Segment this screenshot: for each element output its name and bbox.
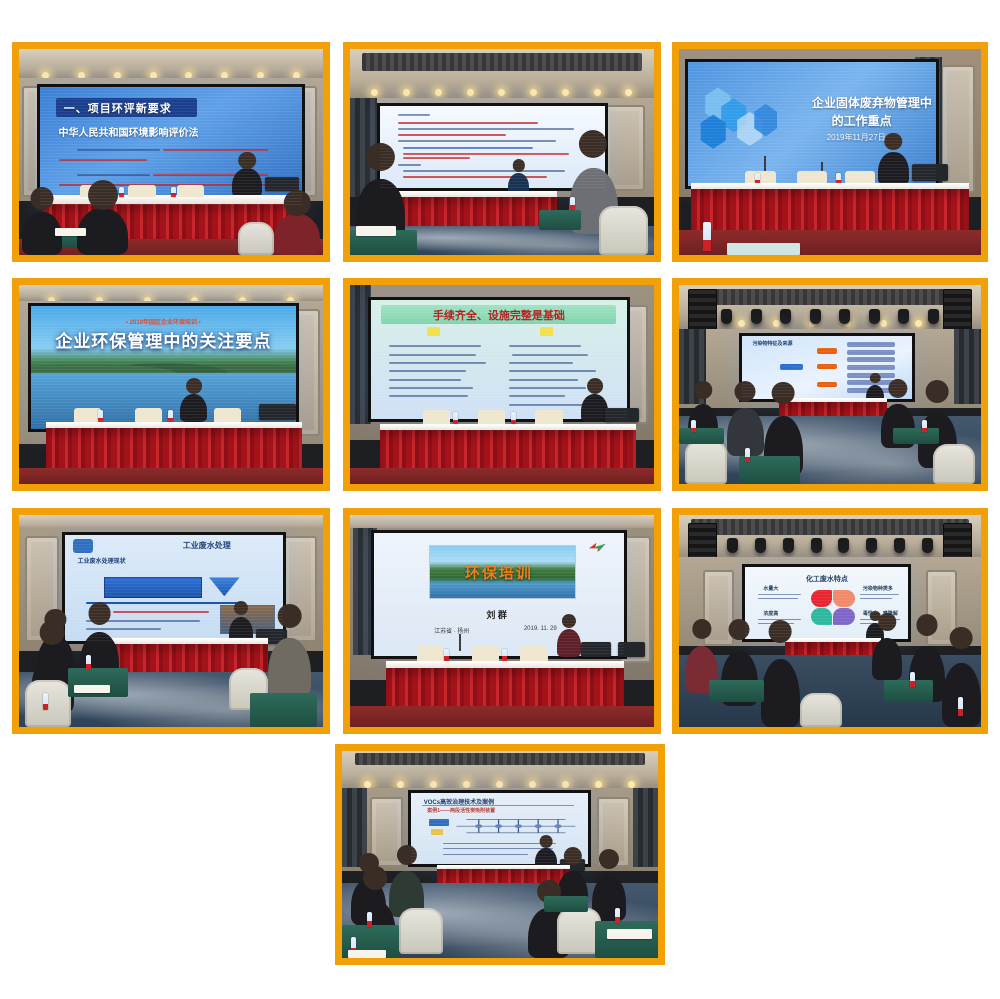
bottle-6b [922,420,927,432]
audience-head-10c [363,866,387,890]
paper-3a [727,243,799,255]
audience-desk-2b [539,210,582,231]
slide-title-5: 手续齐全、设施完整是基础 [433,307,565,323]
audience-head-9b [729,619,750,640]
slide-body-line-1b [163,149,268,151]
slide-title-3: 企业固体废弃物管理中 [812,94,932,111]
laptop-5 [605,408,638,422]
presenter-head-10 [539,835,552,848]
bottle-9a [910,672,915,687]
slide-5-left-2 [389,354,476,356]
microphone-8 [459,634,461,651]
slide-7-clarifier [209,577,240,596]
slide-2-line-5 [398,140,555,142]
curtain-10b [633,788,658,867]
conference-scene-7: 工业废水处理 工业废水处理现状 [19,515,323,727]
photo-tile-4[interactable]: • 2019年园区企业环保培训 • 企业环保管理中的关注要点 [12,278,330,491]
slide-10-diagram-box [431,829,443,835]
photo-tile-8[interactable]: 环保培训 刘 群 江苏省 · 扬州 2019. 11. 29 [343,508,661,734]
slide-5-badge-right [540,327,553,335]
led-screen-2 [377,103,608,191]
swallow-logo-icon [586,541,608,556]
bottle-5b [511,412,516,424]
slide-9-text-1 [758,594,800,595]
bottle-9b [958,697,963,716]
slide-5-left-4 [389,370,466,372]
ceiling-truss-6 [691,289,969,305]
presenter-3 [878,152,908,185]
table-skirt-3 [691,189,969,234]
photo-collage: 一、项目环评新要求 中华人民共和国环境影响评价法 [0,0,1000,999]
audience-head-1c [284,190,310,216]
audience-chair-6a [685,440,727,484]
bottle-4a [98,410,103,422]
audience-paper-1a [55,228,85,236]
table-skirt-4 [46,428,301,472]
ceiling-lights-2 [359,90,645,95]
slide-6-source-node [780,364,804,370]
photo-tile-9[interactable]: 化工废水特点 水量大 污染物种类多 浓度高 毒性大、难降解 [672,508,988,734]
slide-9-petal-03 [833,608,854,625]
slide-affiliation-8: 江苏省 · 扬州 [434,626,469,635]
slide-presenter-8: 刘 群 [486,608,507,621]
slide-body-line-1a [77,149,161,151]
name-card-4a [74,408,101,422]
audience-head-1b [88,180,118,210]
conference-scene-8: 环保培训 刘 群 江苏省 · 扬州 2019. 11. 29 [350,515,654,727]
led-screen-4: • 2019年园区企业环保培训 • 企业环保管理中的关注要点 [28,303,298,432]
slide-6-branch-2 [817,364,837,370]
ceiling-truss-10 [355,753,646,765]
slide-4-hills [31,353,295,373]
audience-desk-7b [250,693,317,727]
audience-7d [268,638,311,697]
slide-6: 污染物特征及来源 [742,336,911,400]
presenter-4 [180,394,207,422]
photo-tile-5[interactable]: 手续齐全、设施完整是基础 [343,278,661,491]
slide-5-left-5 [389,379,461,381]
slide-body-line-1d [77,174,150,176]
laptop-4 [259,404,295,420]
photo-tile-10[interactable]: VOCs高效治理技术及案例 案例1——两段活性炭吸附装置 [335,744,665,965]
presenter-head-3 [885,133,903,151]
laptop-3 [912,164,948,180]
audience-chair-10a [399,908,443,954]
stage-floor-4 [19,468,323,484]
slide-5-left-1 [389,345,481,347]
audience-head-7b [88,602,111,625]
bottle-2a [570,197,575,209]
slide-5-right-4 [509,370,596,372]
slide-2-line-9 [398,164,420,166]
audience-head-9c [769,620,792,643]
slide-7-logo-icon [73,539,93,553]
slide-5-badge-left [427,327,440,335]
bottle-6c [745,448,750,462]
slide-2-line-4 [398,134,506,136]
paper-10a [607,929,651,939]
name-card-5b [478,410,505,424]
slide-5-right-3 [509,362,573,364]
audience-head-9f [950,627,973,650]
presenter-5 [581,394,608,422]
slide-7-note [113,611,209,613]
photo-tile-7[interactable]: 工业废水处理 工业废水处理现状 [12,508,330,734]
slide-10-note-3 [443,854,528,855]
presenter-head-1 [238,152,256,170]
bottle-1b [171,187,176,197]
slide-9-petal-04 [811,608,832,625]
slide-9-block-1: 水量大 [763,585,778,592]
stage-floor-3 [679,230,981,255]
led-screen-7: 工业废水处理 工业废水处理现状 [62,532,287,644]
curtain-6b [954,329,981,405]
laptop-8b [618,642,645,657]
name-card-8c [520,646,547,661]
bottle-3c [703,222,711,251]
stage-floor-8 [350,706,654,727]
photo-tile-1[interactable]: 一、项目环评新要求 中华人民共和国环境影响评价法 [12,42,330,262]
slide-5-right-7 [509,395,565,397]
slide-5-left-3 [389,362,486,364]
slide-subtitle-7: 工业废水处理现状 [78,556,126,565]
slide-4: • 2019年园区企业环保培训 • 企业环保管理中的关注要点 [31,306,295,429]
name-card-8b [472,646,499,661]
slide-2-line-7 [403,153,569,155]
audience-desk-9a [709,680,763,701]
audience-desk-6b [893,428,938,444]
slide-title-line2-3: 的工作重点 [832,112,892,129]
slide-9-text-2 [758,598,797,599]
conference-scene-10: VOCs高效治理技术及案例 案例1——两段活性炭吸附装置 [342,751,658,958]
slide-9-petal-02 [833,590,854,607]
slide-5-right-1 [509,345,581,347]
conference-scene-3: 企业固体废弃物管理中 的工作重点 2019年11月27日 [679,49,981,255]
name-card-1c [177,185,204,197]
slide-7-flowline [86,602,244,604]
bottle-7a [86,655,91,670]
audience-chair-9a [800,693,842,727]
slide-subtitle-1: 中华人民共和国环境影响评价法 [59,124,199,139]
conference-scene-9: 化工废水特点 水量大 污染物种类多 浓度高 毒性大、难降解 [679,515,981,727]
slide-5-left-7 [389,395,468,397]
slide-9-text-4 [860,598,893,599]
slide-title-4: 企业环保管理中的关注要点 [55,327,271,352]
paper-7a [74,685,110,693]
slide-2-line-2 [398,122,537,124]
slide-10: VOCs高效治理技术及案例 案例1——两段活性炭吸附装置 [411,793,588,863]
slide-9-block-2: 污染物种类多 [863,585,893,592]
audience-head-6e [926,380,949,403]
name-card-5a [423,410,450,424]
slide-6-branch-1 [817,348,837,354]
slide-date-8: 2019. 11. 29 [524,626,557,632]
audience-head-7c [40,620,65,645]
presenter-head-6 [870,373,881,384]
audience-head-6b [735,381,756,402]
slide-6-item-1 [847,342,894,347]
slide-10-note-2 [443,848,553,849]
conference-scene-2 [350,49,654,255]
slide-2-line-8 [403,157,470,159]
process-flow-icon [454,817,578,835]
presenter-head-5 [587,378,603,394]
presenter-1 [232,168,262,197]
table-skirt-5 [380,430,635,472]
slide-title-6: 污染物特征及来源 [753,340,793,347]
audience-head-9e [916,614,937,635]
ceiling-truss-2 [362,53,642,71]
slide-title-9: 化工废水特点 [806,574,848,584]
slide-9-block-3: 浓度高 [763,610,778,617]
conference-scene-6: 污染物特征及来源 [679,285,981,484]
slide-7-note-3 [86,628,160,630]
conference-scene-4: • 2019年园区企业环保培训 • 企业环保管理中的关注要点 [19,285,323,484]
audience-head-6c [772,382,795,405]
name-card-5c [535,410,562,424]
name-card-8a [417,646,444,661]
audience-chair-1a [238,222,274,255]
bottle-5a [453,412,458,424]
name-card-4b [135,408,162,422]
slide-2 [380,106,605,188]
audience-desk-10c [544,896,588,913]
bottle-8a [444,649,449,662]
slide-body-line-1c [59,159,148,161]
slide-5-right-2 [512,354,589,356]
slide-10-titlerule [422,805,574,806]
slide-4-lake [31,373,295,430]
slide-date-3: 2019年11月27日 [827,132,886,143]
bottle-1a [119,187,124,197]
bottle-10a [367,912,372,926]
presenter-8 [557,629,581,657]
conference-scene-5: 手续齐全、设施完整是基础 [350,285,654,484]
audience-9c [761,659,800,727]
audience-head-9d [879,613,897,631]
slide-8: 环保培训 刘 群 江苏省 · 扬州 2019. 11. 29 [374,533,623,656]
photo-tile-2[interactable] [343,42,661,262]
bottle-4b [168,410,173,422]
bottle-7b [43,693,48,710]
conference-scene-1: 一、项目环评新要求 中华人民共和国环境影响评价法 [19,49,323,255]
slide-2-line-10 [403,170,565,172]
presenter-head-4 [186,378,202,394]
slide-6-item-2 [847,350,894,355]
audience-chair-6b [933,444,975,484]
slide-9-text-3 [860,594,899,595]
slide-subtitle-10: 案例1——两段活性炭吸附装置 [427,807,495,814]
photo-tile-6[interactable]: 污染物特征及来源 [672,278,988,491]
paper-2a [356,226,396,236]
slide-banner-title-8: 环保培训 [465,562,533,583]
slide-2-line-3 [398,128,573,130]
ceiling-truss-9 [691,519,969,535]
slide-2-line-6 [403,147,533,149]
audience-1c [274,214,320,255]
stage-floor-5 [350,468,654,484]
hexagon-cluster-icon [695,82,809,164]
table-skirt-8 [386,668,623,710]
audience-head-6a [694,381,712,399]
slide-5-left-6 [389,387,473,389]
laptop-8a [581,642,611,657]
photo-tile-3[interactable]: 企业固体废弃物管理中 的工作重点 2019年11月27日 [672,42,988,262]
paper-10b [348,950,386,958]
slide-eyebrow-4: • 2019年园区企业环保培训 • [126,317,201,326]
audience-head-7d [277,604,302,629]
ceiling-2 [350,49,654,103]
bottle-6a [691,420,696,432]
bottle-8b [502,649,507,662]
slide-7-tank [104,577,202,598]
slide-6-branch-3 [817,382,837,388]
slide-title-7: 工业废水处理 [183,540,231,551]
ceiling-10 [342,751,658,792]
audience-desk-9b [884,680,932,701]
name-card-4c [214,408,241,422]
slide-10-diagram-tank [429,819,448,826]
audience-chair-2a [599,206,648,255]
audience-9f [942,663,981,727]
bottle-10b [615,908,620,922]
led-screen-8: 环保培训 刘 群 江苏省 · 扬州 2019. 11. 29 [371,530,626,659]
slide-6-item-3 [847,357,894,362]
audience-desk-10b [595,921,658,958]
name-card-1b [128,185,155,197]
laptop-1 [265,177,298,191]
slide-5-right-5 [509,379,578,381]
slide-title-1: 一、项目环评新要求 [64,100,172,116]
ceiling-lights-10 [351,782,648,786]
slide-6-item-4 [847,365,894,370]
audience-head-1a [30,187,53,210]
audience-desk-6a [679,428,724,444]
slide-2-line-1 [398,114,429,116]
slide-5-right-6 [509,387,586,389]
slide-9-petal-01 [811,590,832,607]
